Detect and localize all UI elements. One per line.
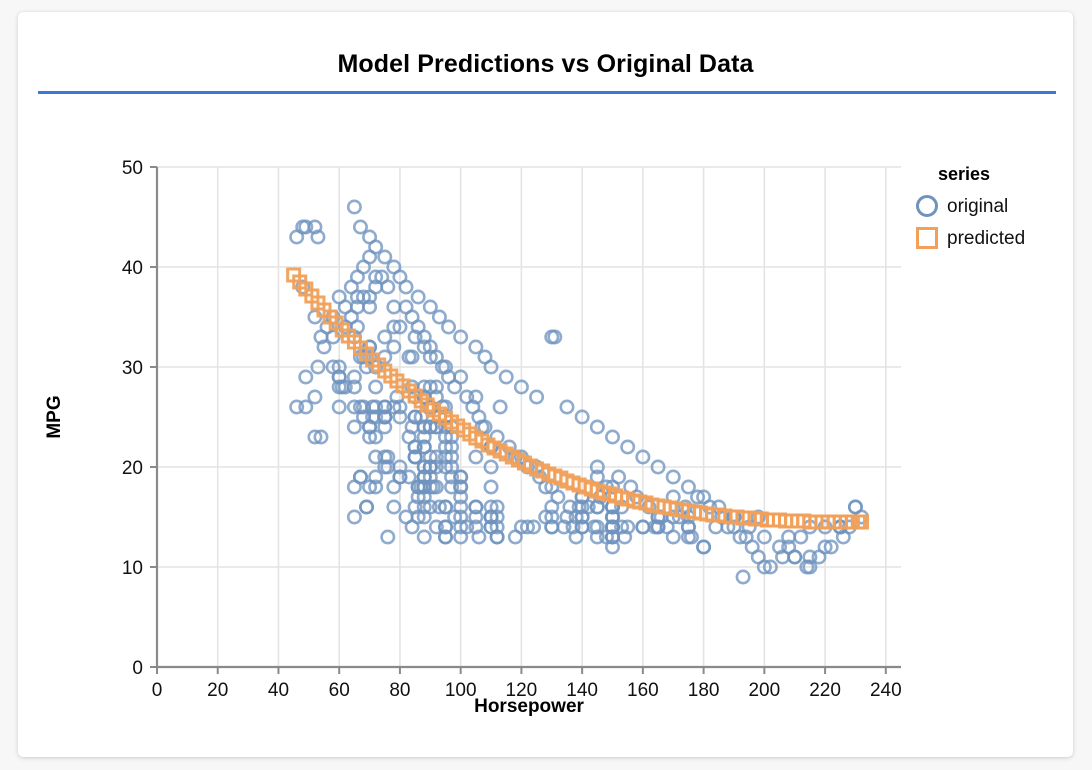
svg-text:160: 160	[627, 680, 659, 701]
axis-tick-labels: 0204060801001201401601802002202400102030…	[122, 158, 902, 701]
y-axis-label: MPG	[44, 395, 65, 438]
svg-text:80: 80	[389, 680, 410, 701]
legend: series original predicted	[916, 164, 1066, 253]
square-marker-icon	[916, 227, 938, 249]
legend-item-label: original	[947, 197, 1008, 216]
svg-text:40: 40	[122, 258, 143, 279]
svg-text:100: 100	[445, 680, 477, 701]
axis-spines	[157, 167, 901, 667]
svg-text:50: 50	[122, 158, 143, 179]
svg-text:40: 40	[268, 680, 289, 701]
svg-text:60: 60	[329, 680, 350, 701]
axis-ticks	[150, 167, 886, 674]
legend-item-label: predicted	[947, 229, 1025, 248]
chart-screen: Model Predictions vs Original Data 02040…	[0, 0, 1092, 770]
legend-title: series	[916, 164, 1066, 185]
svg-text:200: 200	[748, 680, 780, 701]
svg-text:30: 30	[122, 358, 143, 379]
svg-text:220: 220	[809, 680, 841, 701]
legend-item-predicted[interactable]: predicted	[916, 223, 1066, 253]
svg-text:0: 0	[132, 658, 143, 679]
svg-text:20: 20	[122, 458, 143, 479]
x-axis-label: Horsepower	[474, 696, 584, 717]
svg-text:240: 240	[870, 680, 902, 701]
legend-item-original[interactable]: original	[916, 191, 1066, 221]
chart-card: Model Predictions vs Original Data 02040…	[18, 12, 1073, 757]
svg-text:20: 20	[207, 680, 228, 701]
svg-text:180: 180	[688, 680, 720, 701]
plot-container: 0204060801001201401601802002202400102030…	[18, 12, 1073, 757]
svg-text:0: 0	[152, 680, 163, 701]
svg-text:10: 10	[122, 558, 143, 579]
circle-marker-icon	[916, 195, 938, 217]
scatter-plot: 0204060801001201401601802002202400102030…	[18, 12, 1073, 757]
gridlines	[157, 167, 901, 667]
